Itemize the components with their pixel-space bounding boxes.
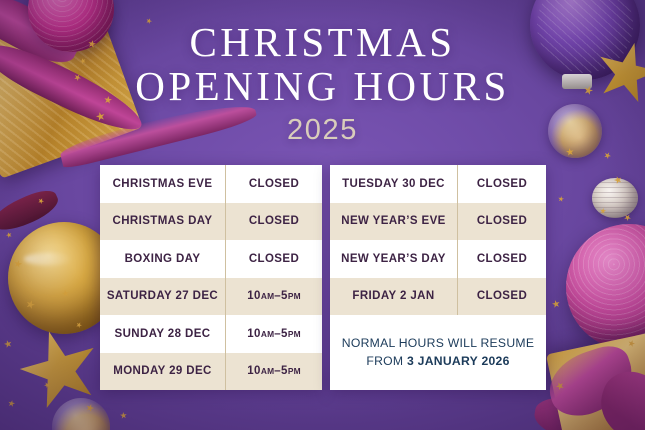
gold-star-confetti-icon bbox=[623, 213, 633, 223]
gold-star-confetti-icon bbox=[627, 339, 636, 348]
gold-glitter-star-bottom-left-icon bbox=[11, 321, 110, 420]
resume-notice-date: 3 JANUARY 2026 bbox=[407, 354, 510, 368]
gold-star-confetti-icon bbox=[3, 339, 13, 349]
hours-close-meridiem: PM bbox=[288, 291, 301, 301]
table-row: TUESDAY 30 DEC CLOSED bbox=[330, 165, 546, 203]
schedule-table-right: TUESDAY 30 DEC CLOSED NEW YEAR’S EVE CLO… bbox=[330, 165, 546, 390]
gold-star-confetti-icon bbox=[85, 403, 95, 413]
hours-open-number: 10 bbox=[247, 365, 261, 377]
day-label: SUNDAY 28 DEC bbox=[100, 315, 226, 353]
silver-ribbed-bauble-right-icon bbox=[592, 178, 638, 218]
hours-value: 10AM–5PM bbox=[226, 315, 322, 353]
hours-close-meridiem: PM bbox=[288, 366, 301, 376]
resume-notice-line-1: NORMAL HOURS WILL RESUME bbox=[342, 335, 534, 352]
headline-line-1: CHRISTMAS bbox=[0, 22, 645, 64]
day-label: BOXING DAY bbox=[100, 240, 226, 278]
poster-headline: CHRISTMAS OPENING HOURS 2025 bbox=[0, 22, 645, 147]
hours-value: CLOSED bbox=[226, 203, 322, 241]
gold-star-confetti-icon bbox=[61, 289, 69, 297]
day-label: SATURDAY 27 DEC bbox=[100, 278, 226, 316]
resume-notice: NORMAL HOURS WILL RESUME FROM 3 JANUARY … bbox=[330, 315, 546, 390]
gold-star-confetti-icon bbox=[565, 147, 574, 156]
hours-value: CLOSED bbox=[458, 278, 546, 316]
gold-star-confetti-icon bbox=[5, 231, 13, 239]
table-row: SATURDAY 27 DEC 10AM–5PM bbox=[100, 278, 322, 316]
hours-close-number: –5 bbox=[274, 365, 288, 377]
magenta-bow-tail-bottom-right-icon bbox=[531, 391, 645, 430]
hours-close-number: –5 bbox=[274, 328, 288, 340]
gold-star-confetti-icon bbox=[551, 299, 560, 308]
day-label: TUESDAY 30 DEC bbox=[330, 165, 458, 203]
resume-notice-line-2: FROM 3 JANUARY 2026 bbox=[366, 353, 509, 370]
headline-line-2: OPENING HOURS bbox=[0, 66, 645, 108]
day-label: NEW YEAR’S DAY bbox=[330, 240, 458, 278]
day-label: MONDAY 29 DEC bbox=[100, 353, 226, 391]
day-label: NEW YEAR’S EVE bbox=[330, 203, 458, 241]
resume-notice-prefix: FROM bbox=[366, 354, 407, 368]
dark-red-ribbon-bottom-left-icon bbox=[0, 185, 62, 237]
day-label: FRIDAY 2 JAN bbox=[330, 278, 458, 316]
gold-star-confetti-icon bbox=[37, 197, 45, 205]
schedule-tables: CHRISTMAS EVE CLOSED CHRISTMAS DAY CLOSE… bbox=[100, 165, 546, 390]
magenta-bow-left-loop-icon bbox=[541, 340, 641, 424]
hours-value: CLOSED bbox=[226, 240, 322, 278]
gold-star-confetti-icon bbox=[7, 399, 15, 407]
clear-gold-leaf-bauble-bottom-left-icon bbox=[52, 398, 110, 430]
gold-star-confetti-icon bbox=[558, 196, 565, 203]
gold-star-confetti-icon bbox=[603, 151, 612, 160]
table-row: CHRISTMAS DAY CLOSED bbox=[100, 203, 322, 241]
headline-year: 2025 bbox=[0, 114, 645, 147]
hours-value: CLOSED bbox=[458, 240, 546, 278]
table-row: NEW YEAR’S EVE CLOSED bbox=[330, 203, 546, 241]
hours-value: CLOSED bbox=[458, 203, 546, 241]
hours-open-number: 10 bbox=[247, 290, 261, 302]
gold-star-confetti-icon bbox=[75, 321, 83, 329]
table-row: NEW YEAR’S DAY CLOSED bbox=[330, 240, 546, 278]
gold-star-confetti-icon bbox=[120, 412, 128, 420]
gold-star-confetti-icon bbox=[25, 299, 37, 311]
hours-close-meridiem: PM bbox=[288, 329, 301, 339]
table-row: CHRISTMAS EVE CLOSED bbox=[100, 165, 322, 203]
gold-star-confetti-icon bbox=[13, 259, 23, 269]
hours-open-number: 10 bbox=[247, 328, 261, 340]
magenta-bow-right-loop-icon bbox=[592, 364, 645, 430]
table-row: SUNDAY 28 DEC 10AM–5PM bbox=[100, 315, 322, 353]
day-label: CHRISTMAS EVE bbox=[100, 165, 226, 203]
table-row: BOXING DAY CLOSED bbox=[100, 240, 322, 278]
table-row: FRIDAY 2 JAN CLOSED bbox=[330, 278, 546, 316]
christmas-opening-hours-poster: CHRISTMAS OPENING HOURS 2025 CHRISTMAS E… bbox=[0, 0, 645, 430]
hours-open-meridiem: AM bbox=[261, 291, 274, 301]
hours-value: 10AM–5PM bbox=[226, 278, 322, 316]
day-label: CHRISTMAS DAY bbox=[100, 203, 226, 241]
hours-value: 10AM–5PM bbox=[226, 353, 322, 391]
gold-star-confetti-icon bbox=[613, 175, 623, 185]
hours-open-meridiem: AM bbox=[261, 366, 274, 376]
schedule-table-left: CHRISTMAS EVE CLOSED CHRISTMAS DAY CLOSE… bbox=[100, 165, 322, 390]
gold-star-confetti-icon bbox=[600, 208, 607, 215]
hours-open-meridiem: AM bbox=[261, 329, 274, 339]
gold-star-confetti-icon bbox=[43, 381, 51, 389]
hours-value: CLOSED bbox=[458, 165, 546, 203]
hours-value: CLOSED bbox=[226, 165, 322, 203]
pink-glitter-bauble-bottom-right-icon bbox=[566, 224, 645, 350]
gold-star-confetti-icon bbox=[555, 381, 566, 392]
table-row: MONDAY 29 DEC 10AM–5PM bbox=[100, 353, 322, 391]
hours-close-number: –5 bbox=[274, 290, 288, 302]
